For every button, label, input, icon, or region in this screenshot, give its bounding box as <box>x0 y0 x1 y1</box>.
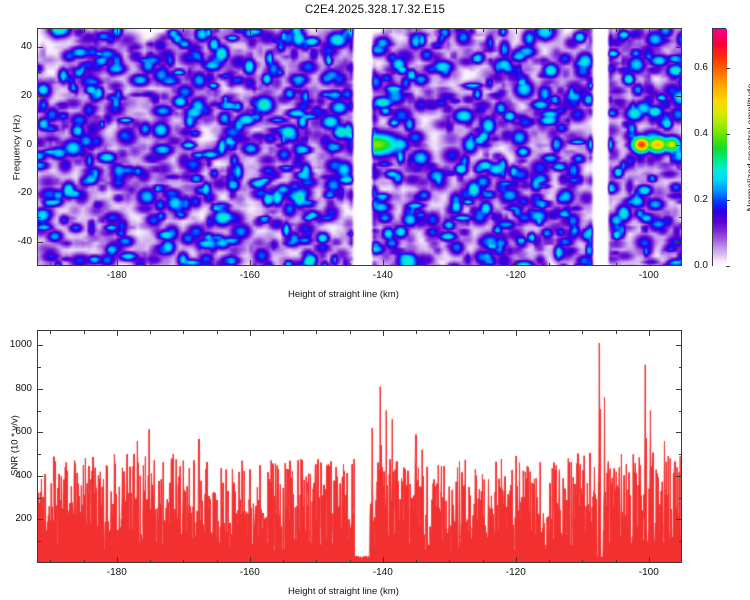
axis-tick <box>117 330 118 336</box>
axis-tick <box>676 476 682 477</box>
axis-tick <box>84 330 85 334</box>
axis-tick <box>676 345 682 346</box>
axis-tick <box>150 28 151 32</box>
axis-tick <box>449 28 450 32</box>
axis-tick <box>416 560 417 564</box>
axis-tick <box>183 28 184 32</box>
spectrogram-panel <box>37 28 682 266</box>
axis-tick <box>316 560 317 564</box>
axis-tick <box>582 28 583 32</box>
spectrogram-xtick-label: -120 <box>502 270 530 281</box>
axis-tick <box>616 330 617 334</box>
axis-tick <box>616 28 617 32</box>
axis-tick <box>679 217 683 218</box>
axis-tick <box>50 330 51 334</box>
axis-tick <box>217 263 218 267</box>
axis-tick <box>37 519 43 520</box>
axis-tick <box>449 330 450 334</box>
colorbar-tick-label: 0.6 <box>685 62 708 73</box>
axis-tick <box>50 263 51 267</box>
spectrogram-xtick-label: -140 <box>369 270 397 281</box>
colorbar-gradient <box>713 29 727 267</box>
axis-tick <box>416 263 417 267</box>
snr-ytick-label: 800 <box>3 383 32 394</box>
snr-yaxis-title: SNR (10 * v/v) <box>10 396 21 496</box>
axis-tick <box>350 330 351 334</box>
axis-tick <box>183 263 184 267</box>
axis-tick <box>50 28 51 32</box>
axis-tick <box>676 242 682 243</box>
axis-tick <box>449 263 450 267</box>
colorbar-tick <box>726 266 730 267</box>
axis-tick <box>676 96 682 97</box>
spectrogram-ytick-label: 40 <box>7 41 32 52</box>
axis-tick <box>37 367 41 368</box>
axis-tick <box>37 72 41 73</box>
spectrogram-xaxis-title: Height of straight line (km) <box>288 289 399 300</box>
axis-tick <box>676 432 682 433</box>
axis-tick <box>283 263 284 267</box>
axis-tick <box>649 28 650 34</box>
colorbar <box>712 28 726 266</box>
axis-tick <box>483 28 484 32</box>
axis-tick <box>37 96 43 97</box>
axis-tick <box>316 330 317 334</box>
axis-tick <box>37 120 41 121</box>
spectrogram-xtick-label: -100 <box>635 270 663 281</box>
axis-tick <box>383 330 384 336</box>
axis-tick <box>84 28 85 32</box>
axis-tick <box>483 560 484 564</box>
axis-tick <box>676 145 682 146</box>
axis-tick <box>416 330 417 334</box>
snr-xtick-label: -100 <box>635 567 663 578</box>
axis-tick <box>679 411 683 412</box>
spectrogram-ytick-label: -40 <box>7 236 32 247</box>
axis-tick <box>37 345 43 346</box>
axis-tick <box>37 411 41 412</box>
axis-tick <box>150 263 151 267</box>
axis-tick <box>549 560 550 564</box>
axis-tick <box>250 260 251 266</box>
axis-tick <box>649 260 650 266</box>
axis-tick <box>449 560 450 564</box>
snr-xtick-label: -160 <box>236 567 264 578</box>
axis-tick <box>649 557 650 563</box>
snr-xtick-label: -120 <box>502 567 530 578</box>
axis-tick <box>676 47 682 48</box>
axis-tick <box>217 28 218 32</box>
axis-tick <box>350 263 351 267</box>
axis-tick <box>250 330 251 336</box>
axis-tick <box>676 193 682 194</box>
axis-tick <box>516 260 517 266</box>
axis-tick <box>549 28 550 32</box>
axis-tick <box>183 560 184 564</box>
axis-tick <box>37 541 41 542</box>
axis-tick <box>676 389 682 390</box>
colorbar-tick-label: 0.0 <box>685 260 708 271</box>
colorbar-tick <box>726 68 730 69</box>
axis-tick <box>516 28 517 34</box>
figure-title: C2E4.2025.328.17.32.E15 <box>0 4 750 16</box>
axis-tick <box>582 330 583 334</box>
axis-tick <box>582 263 583 267</box>
spectrogram-xtick-label: -180 <box>103 270 131 281</box>
snr-ytick-label: 200 <box>3 513 32 524</box>
axis-tick <box>483 263 484 267</box>
spectrogram-xtick-label: -160 <box>236 270 264 281</box>
axis-tick <box>283 560 284 564</box>
snr-xaxis-title: Height of straight line (km) <box>288 586 399 597</box>
axis-tick <box>37 476 43 477</box>
axis-tick <box>549 263 550 267</box>
axis-tick <box>37 217 41 218</box>
axis-tick <box>283 28 284 32</box>
axis-tick <box>316 263 317 267</box>
axis-tick <box>483 330 484 334</box>
spectrogram-frame <box>37 28 682 266</box>
axis-tick <box>649 330 650 336</box>
axis-tick <box>679 367 683 368</box>
axis-tick <box>383 260 384 266</box>
axis-tick <box>37 47 43 48</box>
axis-tick <box>516 330 517 336</box>
axis-tick <box>37 145 43 146</box>
axis-tick <box>117 557 118 563</box>
axis-tick <box>676 519 682 520</box>
axis-tick <box>217 330 218 334</box>
axis-tick <box>679 541 683 542</box>
spectrogram-ytick-label: -20 <box>7 187 32 198</box>
snr-panel <box>37 330 682 563</box>
axis-tick <box>383 557 384 563</box>
axis-tick <box>150 560 151 564</box>
axis-tick <box>250 28 251 34</box>
colorbar-tick <box>726 134 730 135</box>
axis-tick <box>416 28 417 32</box>
axis-tick <box>37 389 43 390</box>
axis-tick <box>183 330 184 334</box>
snr-frame <box>37 330 682 563</box>
axis-tick <box>217 560 218 564</box>
axis-tick <box>582 560 583 564</box>
colorbar-tick-label: 0.2 <box>685 194 708 205</box>
axis-tick <box>679 169 683 170</box>
axis-tick <box>37 432 43 433</box>
axis-tick <box>679 72 683 73</box>
axis-tick <box>84 560 85 564</box>
axis-tick <box>549 330 550 334</box>
axis-tick <box>37 454 41 455</box>
colorbar-tick-label: 0.4 <box>685 128 708 139</box>
axis-tick <box>84 263 85 267</box>
axis-tick <box>117 28 118 34</box>
axis-tick <box>117 260 118 266</box>
axis-tick <box>350 560 351 564</box>
spectrogram-yaxis-title: Frequency (Hz) <box>12 108 23 188</box>
axis-tick <box>679 454 683 455</box>
axis-tick <box>679 120 683 121</box>
snr-xtick-label: -140 <box>369 567 397 578</box>
colorbar-tick <box>726 200 730 201</box>
colorbar-title: Normalized spectral amplitude <box>746 68 750 228</box>
figure-root: C2E4.2025.328.17.32.E15 -180-160-140-120… <box>0 0 750 600</box>
axis-tick <box>616 560 617 564</box>
axis-tick <box>616 263 617 267</box>
axis-tick <box>37 498 41 499</box>
axis-tick <box>37 193 43 194</box>
axis-tick <box>679 498 683 499</box>
axis-tick <box>50 560 51 564</box>
axis-tick <box>350 28 351 32</box>
axis-tick <box>37 169 41 170</box>
axis-tick <box>516 557 517 563</box>
snr-xtick-label: -180 <box>103 567 131 578</box>
axis-tick <box>150 330 151 334</box>
axis-tick <box>316 28 317 32</box>
axis-tick <box>37 242 43 243</box>
axis-tick <box>250 557 251 563</box>
snr-ytick-label: 1000 <box>3 339 32 350</box>
spectrogram-ytick-label: 20 <box>7 90 32 101</box>
axis-tick <box>283 330 284 334</box>
axis-tick <box>383 28 384 34</box>
